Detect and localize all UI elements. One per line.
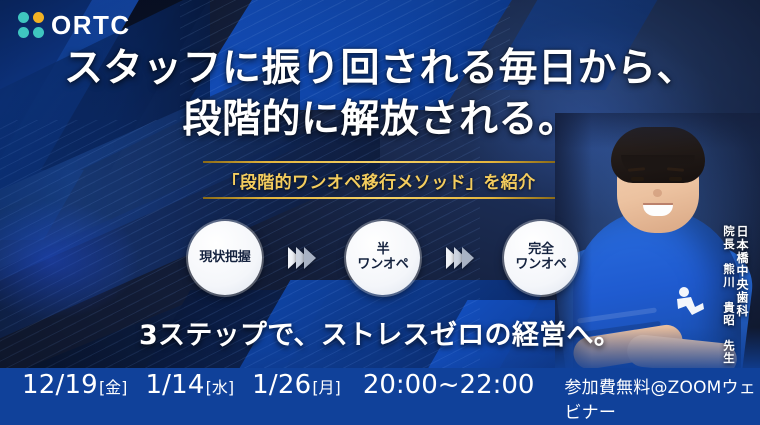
step-label-1: 現状把握 xyxy=(199,251,250,266)
session-time: 20:00~22:00 xyxy=(363,370,535,400)
chevron-right-icon xyxy=(450,247,474,269)
step-label-2: 半 ワンオペ xyxy=(357,243,408,272)
brand-logo[interactable]: ORTC xyxy=(18,12,131,38)
step-3-line-2: ワンオペ xyxy=(515,258,566,273)
headline-line-2: 段階的に解放される。 xyxy=(0,95,760,146)
step-1-line-1: 現状把握 xyxy=(199,250,250,265)
step-circle-2: 半 ワンオペ xyxy=(346,221,420,295)
step-2-line-2: ワンオペ xyxy=(357,258,408,273)
step-label-3: 完全 ワンオペ xyxy=(515,243,566,272)
tagline: 3ステップで、ストレスゼロの経営へ。 xyxy=(0,313,760,352)
footer-note: 参加費無料@ZOOMウェビナー xyxy=(564,373,760,423)
chevron-right-icon xyxy=(292,247,316,269)
date-dayofweek: [金] xyxy=(99,374,128,398)
footer-bar: 12/19 [金] 1/14 [水] 1/26 [月] 20:00~22:00 … xyxy=(0,368,760,425)
date-value: 1/14 xyxy=(145,370,204,400)
date-value: 12/19 xyxy=(22,370,98,400)
step-circle-1: 現状把握 xyxy=(188,221,262,295)
headline: スタッフに振り回される毎日から、 段階的に解放される。 xyxy=(0,44,760,145)
session-date-3: 1/26 [月] xyxy=(252,370,341,400)
subtitle-block: 「段階的ワンオペ移行メソッド」を紹介 xyxy=(203,161,555,199)
logo-dot xyxy=(33,12,44,23)
logo-dot xyxy=(18,12,29,23)
headline-line-1: スタッフに振り回される毎日から、 xyxy=(0,44,760,95)
chevron-right-icon xyxy=(304,247,316,269)
subtitle-rule-bottom xyxy=(203,197,555,199)
date-value: 1/26 xyxy=(252,370,311,400)
step-circle-3: 完全 ワンオペ xyxy=(504,221,578,295)
session-date-2: 1/14 [水] xyxy=(145,370,234,400)
webinar-banner: 院長 熊川 貴昭 先生 日本橋中央歯科 ORTC スタッフに振り回される毎日から… xyxy=(0,0,760,425)
brand-wordmark: ORTC xyxy=(51,12,131,38)
logo-dots-icon xyxy=(18,12,44,38)
step-3-line-1: 完全 xyxy=(515,243,566,258)
chevron-right-icon xyxy=(462,247,474,269)
subtitle-text: 「段階的ワンオペ移行メソッド」を紹介 xyxy=(203,163,555,197)
date-dayofweek: [月] xyxy=(312,374,341,398)
date-dayofweek: [水] xyxy=(206,374,235,398)
session-dates: 12/19 [金] 1/14 [水] 1/26 [月] 20:00~22:00 … xyxy=(0,370,760,423)
presenter-clinic: 日本橋中央歯科 xyxy=(736,225,748,317)
step-flow: 現状把握 半 ワンオペ 完全 ワンオペ xyxy=(188,220,578,296)
logo-dot xyxy=(33,27,44,38)
logo-dot xyxy=(18,27,29,38)
step-2-line-1: 半 xyxy=(357,243,408,258)
session-date-1: 12/19 [金] xyxy=(22,370,127,400)
